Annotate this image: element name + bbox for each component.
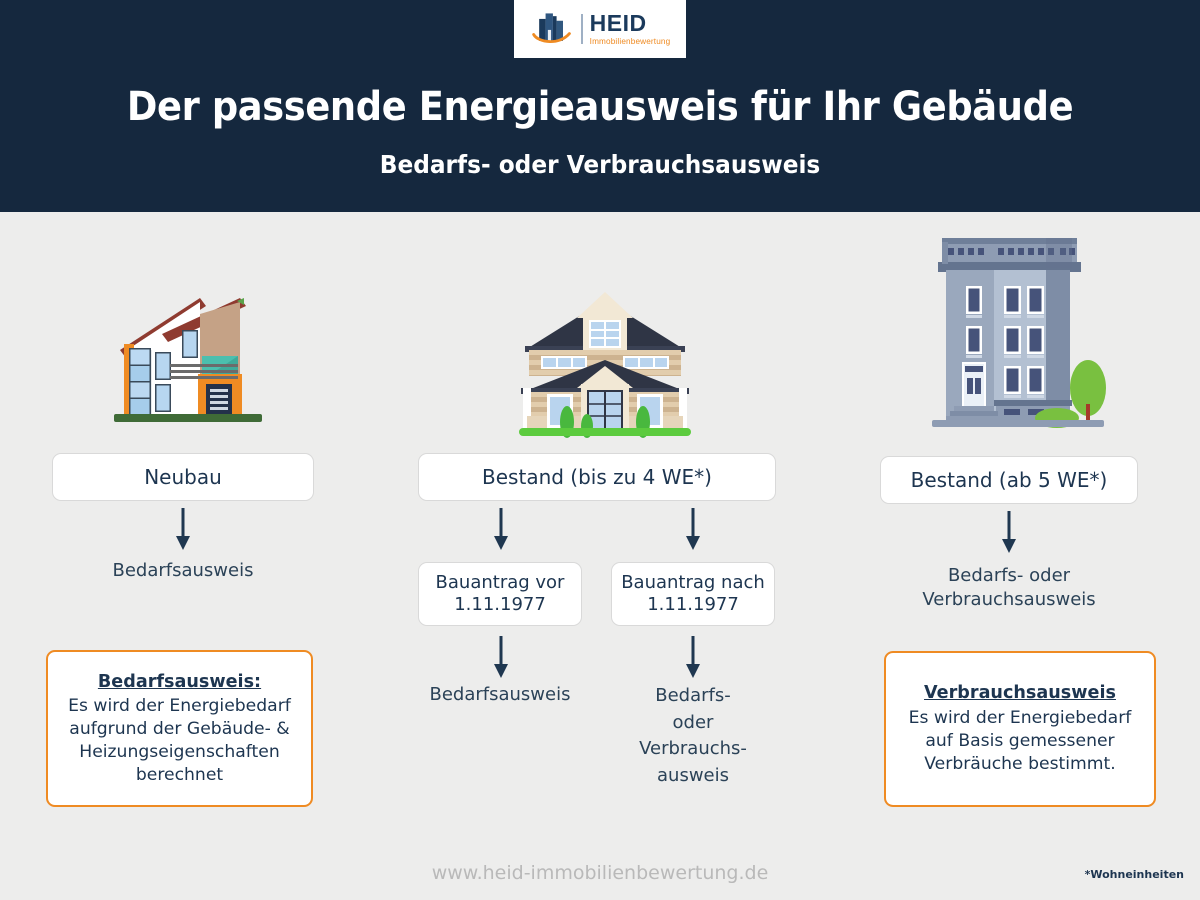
infographic-page: HEID Immobilienbewertung Der passende En… [0, 0, 1200, 900]
verbrauchsausweis-callout-heading: Verbrauchsausweis [924, 682, 1116, 705]
bauantrag-nach-box[interactable]: Bauantrag nach 1.11.1977 [611, 562, 775, 626]
arrow-bestand5-down-icon [994, 511, 1024, 555]
logo-wordmark: HEID Immobilienbewertung [590, 12, 671, 46]
header-banner: HEID Immobilienbewertung Der passende En… [0, 0, 1200, 212]
bedarfsausweis-callout-body: Es wird der Energiebedarf aufgrund der G… [56, 695, 303, 787]
logo-tagline-text: Immobilienbewertung [590, 38, 671, 46]
bauantrag-nach-label: Bauantrag nach 1.11.1977 [621, 572, 765, 617]
logo-divider [581, 14, 583, 44]
brand-logo: HEID Immobilienbewertung [514, 0, 686, 58]
bauantrag-vor-label: Bauantrag vor 1.11.1977 [436, 572, 565, 617]
bauantrag-vor-box[interactable]: Bauantrag vor 1.11.1977 [418, 562, 582, 626]
apartment-building-icon [912, 228, 1122, 438]
bestand-5we-box[interactable]: Bestand (ab 5 WE*) [880, 456, 1138, 504]
bestand-5we-box-label: Bestand (ab 5 WE*) [911, 468, 1108, 493]
bauantrag-nach-result: Bedarfs- oder Verbrauchs- ausweis [611, 683, 775, 790]
bestand-4we-box[interactable]: Bestand (bis zu 4 WE*) [418, 453, 776, 501]
bestand-4we-box-label: Bestand (bis zu 4 WE*) [482, 465, 712, 490]
logo-brand-text: HEID [590, 12, 647, 35]
bedarfsausweis-callout-heading: Bedarfsausweis: [98, 671, 261, 694]
arrow-neubau-down-icon [168, 508, 198, 552]
neubau-result: Bedarfsausweis [52, 559, 314, 583]
arrow-bauantrag-nach-down-icon [678, 636, 708, 680]
website-url[interactable]: www.heid-immobilienbewertung.de [0, 862, 1200, 884]
bedarfsausweis-callout: Bedarfsausweis: Es wird der Energiebedar… [46, 650, 313, 807]
footnote-wohneinheiten: *Wohneinheiten [1085, 868, 1184, 881]
building-towers-swoosh-icon [530, 9, 574, 49]
page-subtitle: Bedarfs- oder Verbrauchsausweis [42, 150, 1158, 179]
page-title: Der passende Energieausweis für Ihr Gebä… [48, 84, 1152, 130]
bauantrag-vor-result: Bedarfsausweis [418, 683, 582, 707]
arrow-bauantrag-vor-down-icon [486, 636, 516, 680]
verbrauchsausweis-callout-body: Es wird der Energiebedarf auf Basis geme… [894, 707, 1146, 776]
arrow-bestand4-right-down-icon [678, 508, 708, 552]
bestand-5we-result: Bedarfs- oder Verbrauchsausweis [880, 564, 1138, 612]
neubau-box-label: Neubau [144, 465, 222, 490]
neubau-box[interactable]: Neubau [52, 453, 314, 501]
family-house-icon [505, 288, 705, 438]
verbrauchsausweis-callout: Verbrauchsausweis Es wird der Energiebed… [884, 651, 1156, 807]
arrow-bestand4-left-down-icon [486, 508, 516, 552]
modern-house-icon [100, 288, 282, 438]
